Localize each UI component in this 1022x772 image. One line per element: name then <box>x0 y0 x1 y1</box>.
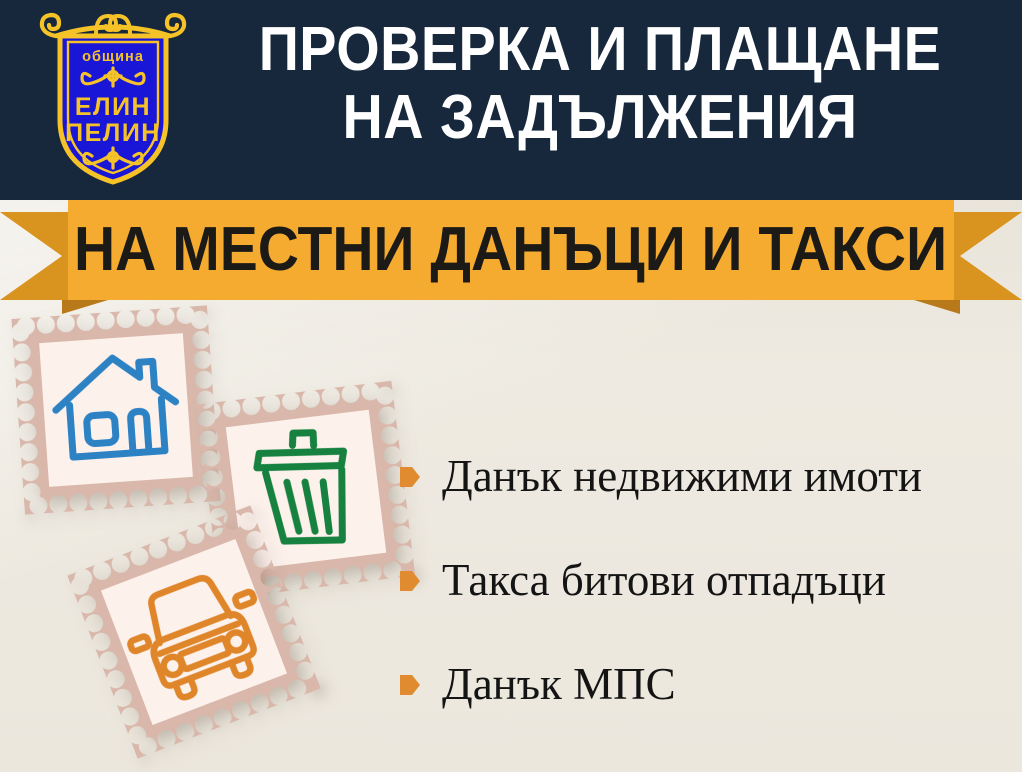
ribbon-fold-right <box>914 300 960 314</box>
ribbon-label: НА МЕСТНИ ДАНЪЦИ И ТАКСИ <box>74 218 947 282</box>
title-line-2: НА ЗАДЪЛЖЕНИЯ <box>231 84 969 152</box>
ribbon-face: НА МЕСТНИ ДАНЪЦИ И ТАКСИ <box>68 200 954 300</box>
list-item-label: Данък недвижими имоти <box>442 451 922 501</box>
subtitle-ribbon: НА МЕСТНИ ДАНЪЦИ И ТАКСИ <box>0 200 1022 310</box>
title-line-1: ПРОВЕРКА И ПЛАЩАНЕ <box>231 16 969 84</box>
arrow-bullet-icon <box>400 673 420 697</box>
arrow-bullet-icon <box>400 569 420 593</box>
stamp-card-property <box>11 305 220 514</box>
list-item-label: Такса битови отпадъци <box>442 555 886 605</box>
svg-text:ЕЛИН: ЕЛИН <box>75 93 151 121</box>
svg-text:ПЕЛИН: ПЕЛИН <box>65 119 161 147</box>
poster-title: ПРОВЕРКА И ПЛАЩАНЕ НА ЗАДЪЛЖЕНИЯ <box>190 16 1010 152</box>
list-item[interactable]: Такса битови отпадъци <box>400 528 1012 632</box>
coat-of-arms-crest: община ЕЛИН ПЕЛИН <box>38 8 188 188</box>
tax-type-list: Данък недвижими имоти Такса битови отпад… <box>400 424 1012 736</box>
arrow-bullet-icon <box>400 465 420 489</box>
list-item[interactable]: Данък МПС <box>400 632 1012 736</box>
poster-root: община ЕЛИН ПЕЛИН <box>0 0 1022 772</box>
svg-text:община: община <box>82 49 144 65</box>
list-item[interactable]: Данък недвижими имоти <box>400 424 1012 528</box>
list-item-label: Данък МПС <box>442 659 676 709</box>
header-bar: община ЕЛИН ПЕЛИН <box>0 0 1022 200</box>
